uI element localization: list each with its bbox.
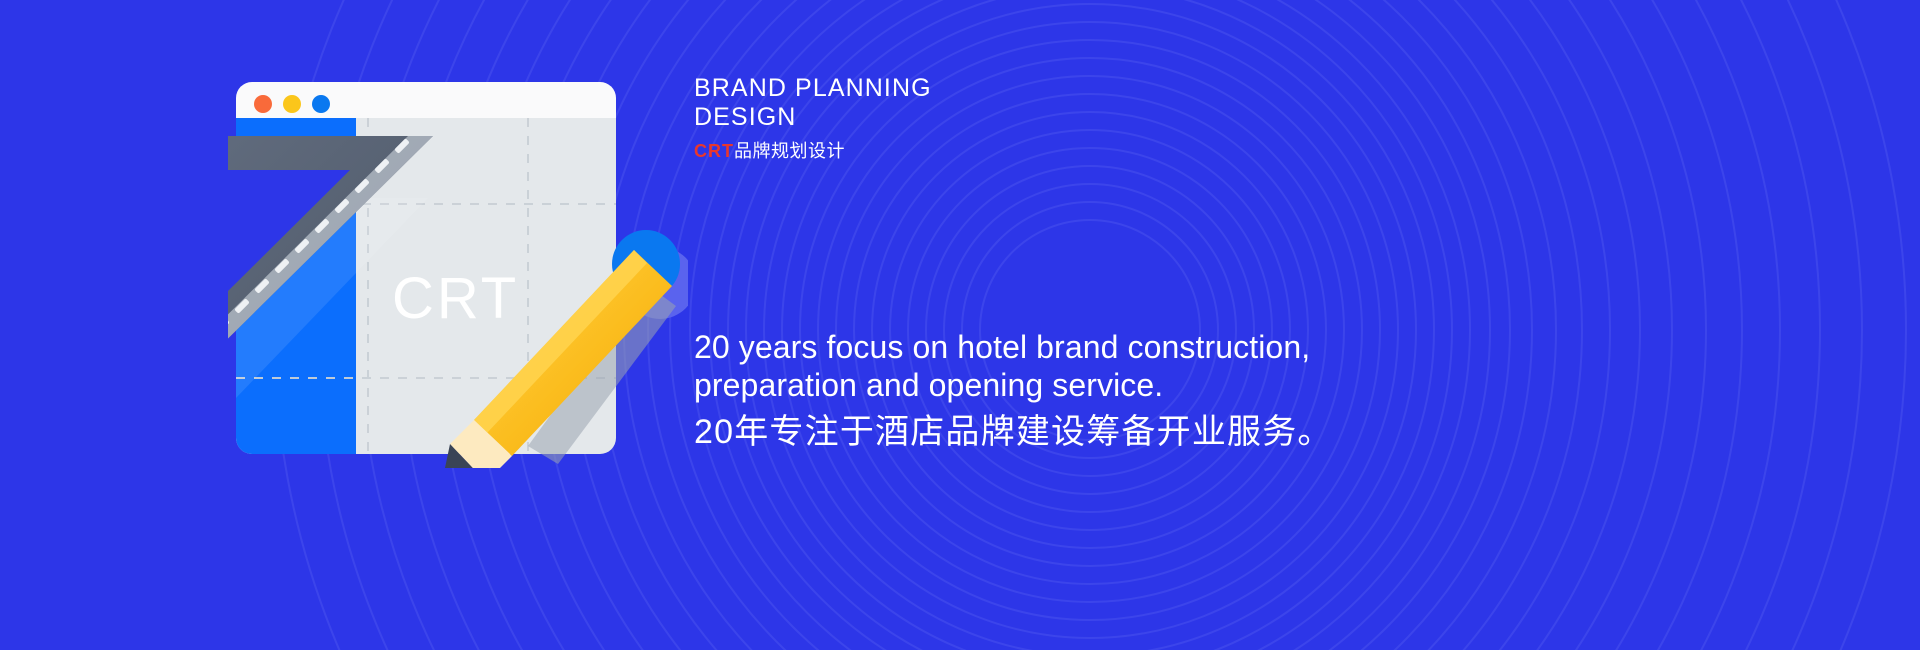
brand-design-illustration: CRT (228, 78, 688, 458)
sub-heading-cn: 品牌规划设计 (734, 141, 845, 161)
eyebrow-heading: BRAND PLANNING DESIGN (694, 74, 1394, 132)
copy-block: BRAND PLANNING DESIGN CRT品牌规划设计 20 years… (694, 0, 1894, 650)
brand-mark-crt: CRT (694, 141, 734, 161)
tagline-english: 20 years focus on hotel brand constructi… (694, 328, 1694, 404)
card-logo: CRT (392, 266, 519, 331)
svg-text:CRT: CRT (392, 266, 519, 331)
sub-heading: CRT品牌规划设计 (694, 139, 845, 163)
promo-banner: CRT (0, 0, 1920, 650)
tagline-chinese: 20年专注于酒店品牌建设筹备开业服务。 (694, 412, 1694, 452)
